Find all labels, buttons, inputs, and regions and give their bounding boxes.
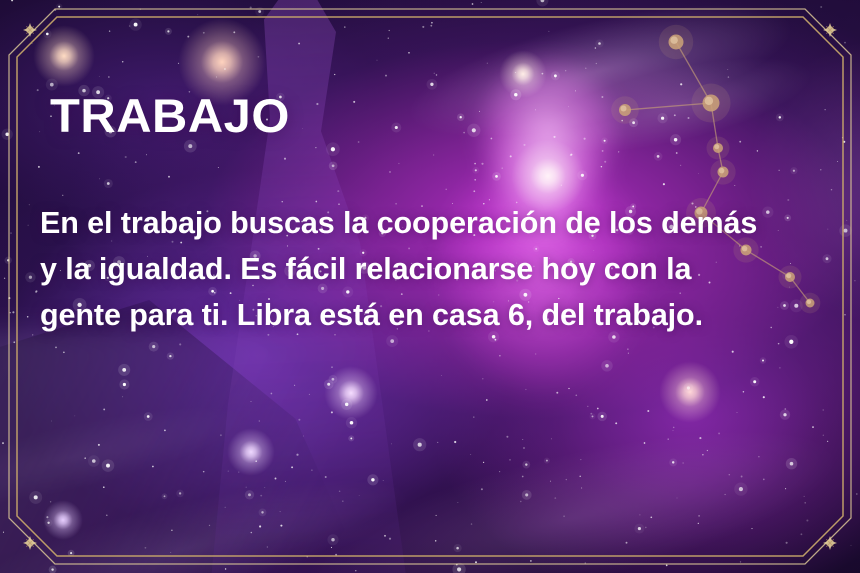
horoscope-line: En el trabajo buscas la cooperación de l… — [40, 200, 840, 246]
page-title: TRABAJO — [50, 92, 290, 139]
card-content: TRABAJO En el trabajo buscas la cooperac… — [0, 0, 860, 573]
horoscope-card: TRABAJO En el trabajo buscas la cooperac… — [0, 0, 860, 573]
horoscope-line: gente para ti. Libra está en casa 6, del… — [40, 292, 840, 338]
horoscope-line: y la igualdad. Es fácil relacionarse hoy… — [40, 246, 840, 292]
horoscope-body: En el trabajo buscas la cooperación de l… — [40, 200, 840, 338]
